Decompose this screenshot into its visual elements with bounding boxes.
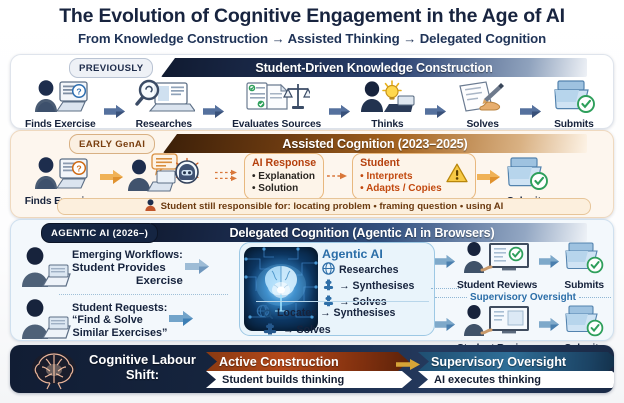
dotted-arrow-icon xyxy=(215,169,241,181)
chip-active-construction-sub: Student builds thinking xyxy=(206,371,412,388)
agentic-ai-row: Locates → Synthesises xyxy=(256,304,429,322)
step-submits[interactable]: Submits xyxy=(549,79,599,130)
review-submit-top: Student Reviews xyxy=(435,241,611,291)
student-monitor-check-icon xyxy=(458,241,536,279)
cognitive-labour-shift-bar: Cognitive Labour Shift: Active Construct… xyxy=(10,345,614,393)
step-evaluates-sources[interactable]: Evaluates Sources xyxy=(232,79,321,130)
agentic-ai-row: Researches xyxy=(322,262,429,278)
step-label: Thinks xyxy=(371,119,403,130)
student-chat-bot-icon xyxy=(124,153,210,198)
puzzle-icon xyxy=(262,322,279,338)
hand-writing-paper-icon xyxy=(454,79,512,118)
step-label: Researches xyxy=(136,119,192,130)
student-box-item: • Interprets xyxy=(360,171,441,183)
workflow-student-provides[interactable]: Emerging Workflows: Student Provides Exe… xyxy=(15,244,240,293)
band3-right-column: Student Reviews xyxy=(435,241,611,354)
emerging-workflows-label: Emerging Workflows: xyxy=(72,249,183,262)
band2-banner: Assisted Cognition (2023–2025) xyxy=(163,134,587,153)
bar-title: Cognitive Labour Shift: xyxy=(80,352,205,383)
flow-arrow-icon xyxy=(520,105,541,118)
band-agentic-ai: Delegated Cognition (Agentic AI in Brows… xyxy=(10,219,614,341)
supervisory-oversight-label: Supervisory Oversight xyxy=(470,292,576,303)
student-box-item: • Adapts / Copies xyxy=(360,183,441,195)
oversight-divider-row: Supervisory Oversight xyxy=(435,292,611,303)
page-title: The Evolution of Cognitive Engagement in… xyxy=(10,6,614,28)
student-box-title: Student xyxy=(360,157,441,170)
band-previously: Student-Driven Knowledge Construction PR… xyxy=(10,54,614,129)
bar-title-line1: Cognitive Labour xyxy=(80,352,205,367)
agentic-ai-box: Agentic AI Researches → Synthesises xyxy=(239,242,435,336)
step-student-reviews[interactable]: Student Reviews xyxy=(457,241,537,291)
folder-upload-check-icon xyxy=(549,79,599,118)
globe-search-icon xyxy=(256,304,273,322)
agentic-ai-row-text: → Synthesises xyxy=(339,280,414,292)
brain-icon xyxy=(28,350,80,393)
chip-supervisory-oversight[interactable]: Supervisory Oversight xyxy=(418,352,614,371)
page-subtitle: From Knowledge Construction → Assisted T… xyxy=(10,31,614,46)
svg-text:?: ? xyxy=(77,86,82,96)
flow-arrow-icon xyxy=(539,255,560,268)
step-thinks[interactable]: Thinks xyxy=(358,79,416,130)
student-requests-line2: “Find & Solve xyxy=(72,314,167,327)
flow-arrow-icon xyxy=(425,105,446,118)
ai-to-oversight-connector xyxy=(431,288,461,289)
ai-response-item: • Explanation xyxy=(252,171,316,183)
flow-arrow-icon xyxy=(100,170,121,183)
step-solves[interactable]: Solves xyxy=(454,79,512,130)
step-finds-exercise[interactable]: ? Finds Exercise xyxy=(25,79,96,130)
left-divider xyxy=(59,294,228,295)
step-label: Submits xyxy=(564,280,604,291)
dotted-arrow-icon xyxy=(327,172,349,180)
flow-arrow-icon xyxy=(435,255,456,268)
infographic-canvas: The Evolution of Cognitive Engagement in… xyxy=(0,0,624,403)
flow-arrow-icon xyxy=(104,105,125,118)
folder-upload-check-icon xyxy=(561,304,607,342)
agentic-ai-row-text: Researches xyxy=(339,264,399,276)
magnifier-laptop-icon xyxy=(133,79,195,118)
student-response-box: Student • Interprets • Adapts / Copies xyxy=(352,153,475,200)
agentic-ai-bottom-list: Locates → Synthesises → Solves xyxy=(256,299,429,338)
student-monitor-check-icon xyxy=(458,304,536,342)
flow-arrow-icon xyxy=(435,318,456,331)
student-requests-line1: Student Requests: xyxy=(72,302,167,315)
step-label: Evaluates Sources xyxy=(232,119,321,130)
flow-arrow-icon xyxy=(169,311,190,324)
chip-supervisory-oversight-label: Supervisory Oversight xyxy=(431,355,566,369)
agentic-ai-title: Agentic AI xyxy=(322,247,429,261)
step-label: Submits xyxy=(554,119,594,130)
header: The Evolution of Cognitive Engagement in… xyxy=(0,0,624,48)
student-laptop-icon xyxy=(15,296,71,345)
gold-arrow-icon xyxy=(396,357,420,375)
ai-response-title: AI Response xyxy=(252,157,316,170)
student-laptop-icon xyxy=(15,244,71,293)
agentic-ai-row: → Solves xyxy=(262,322,429,338)
student-provides-line2: Exercise xyxy=(72,275,183,288)
chip-active-construction-label: Active Construction xyxy=(219,355,339,369)
band1-banner: Student-Driven Knowledge Construction xyxy=(161,58,587,77)
band2-footnote-text: Student still responsible for: locating … xyxy=(161,201,504,212)
step-label: Solves xyxy=(466,119,498,130)
checklist-scales-icon xyxy=(244,79,310,118)
agentic-ai-row-text: Locates → Synthesises xyxy=(277,307,395,319)
band3-left-column: Emerging Workflows: Student Provides Exe… xyxy=(15,244,240,345)
puzzle-icon xyxy=(322,278,335,294)
folder-upload-check-icon xyxy=(502,156,552,195)
agentic-ai-row-text: → Solves xyxy=(283,324,331,336)
band2-badge: EARLY GenAI xyxy=(69,134,155,154)
ai-response-box: AI Response • Explanation • Solution xyxy=(244,153,324,200)
flow-arrow-icon xyxy=(185,259,206,272)
step-submits[interactable]: Submits xyxy=(561,241,607,291)
band3-badge: AGENTIC AI (2026–) xyxy=(41,223,158,243)
folder-upload-check-icon xyxy=(561,241,607,279)
band-early-genai: Assisted Cognition (2023–2025) EARLY Gen… xyxy=(10,130,614,218)
flow-arrow-icon xyxy=(539,318,560,331)
warning-triangle-icon xyxy=(446,163,468,189)
student-head-icon xyxy=(145,199,156,214)
band1-badge: PREVIOUSLY xyxy=(69,58,153,78)
band2-footnote: Student still responsible for: locating … xyxy=(57,198,591,215)
band1-flow: ? Finds Exercise xyxy=(11,79,613,130)
flow-arrow-icon xyxy=(329,105,350,118)
flow-arrow-icon xyxy=(477,170,498,183)
flow-arrow-icon xyxy=(203,105,224,118)
band3-banner: Delegated Cognition (Agentic AI in Brows… xyxy=(137,223,587,242)
ai-response-item: • Solution xyxy=(252,183,316,195)
step-label: Finds Exercise xyxy=(25,119,96,130)
student-lightbulb-icon xyxy=(358,79,416,118)
student-laptop-question-icon: ? xyxy=(29,156,91,195)
chip-supervisory-oversight-sub: AI executes thinking xyxy=(418,371,614,388)
student-provides-line1: Student Provides xyxy=(72,262,183,275)
workflow-student-requests[interactable]: Student Requests: “Find & Solve Similar … xyxy=(15,296,240,345)
student-laptop-question-icon: ? xyxy=(29,79,91,118)
agentic-ai-row: → Synthesises xyxy=(322,278,429,294)
student-requests-line3: Similar Exercises” xyxy=(72,327,167,340)
chip-active-construction[interactable]: Active Construction xyxy=(206,352,409,371)
globe-icon xyxy=(322,262,335,278)
bar-title-line2: Shift: xyxy=(80,367,205,382)
step-label: Student Reviews xyxy=(457,280,537,291)
step-researches[interactable]: Researches xyxy=(133,79,195,130)
svg-text:?: ? xyxy=(76,164,81,174)
